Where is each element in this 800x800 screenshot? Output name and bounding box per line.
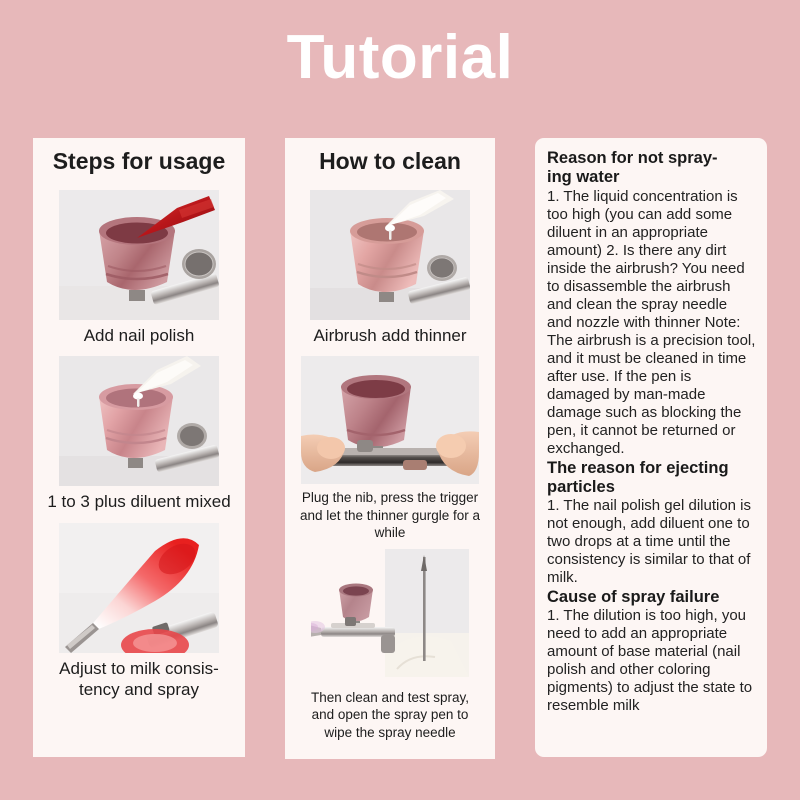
step-item: Then clean and test spray, and open the … [293,549,487,747]
step-item: Add nail polish [41,190,237,355]
photo-add-nail-polish [59,190,219,320]
photo-press-trigger [301,356,479,484]
photo-diluent-mixed [59,356,219,486]
airbrush-cup-with-diluent-bottle-icon [59,356,219,486]
photo-clean-test-spray [311,549,469,684]
card-steps-for-usage: Steps for usage [33,138,245,757]
step-caption: Plug the nib, press the trigger and let … [293,484,487,547]
section-body: 1. The nail polish gel dilution is not e… [547,497,756,587]
step-item: Adjust to milk consis- tency and spray [41,523,237,708]
page-title: Tutorial [0,0,800,89]
step-caption: Then clean and test spray, and open the … [293,684,487,747]
gradient-red-sprayed-nail-tip-icon [59,523,219,653]
section-not-spraying-water: Reason for not spray- ing water 1. The l… [547,149,756,458]
step-item: Plug the nib, press the trigger and let … [293,356,487,547]
card-how-to-clean: How to clean [285,138,495,759]
photo-milk-consistency-spray [59,523,219,653]
card-troubleshooting: Reason for not spray- ing water 1. The l… [535,138,767,757]
column-header-steps: Steps for usage [41,148,237,176]
step-caption: Adjust to milk consis- tency and spray [41,653,237,708]
photo-airbrush-add-thinner [310,190,470,320]
airbrush-spraying-and-needle-wipe-icon [311,549,469,684]
step-caption: 1 to 3 plus diluent mixed [41,486,237,521]
section-body: 1. The liquid concentration is too high … [547,188,756,458]
tutorial-infographic: Tutorial Steps for usage [0,0,800,800]
section-heading: Reason for not spray- ing water [547,149,756,188]
airbrush-cup-with-red-nail-polish-brush-icon [59,190,219,320]
step-caption: Airbrush add thinner [293,320,487,355]
hands-holding-airbrush-pressing-trigger-icon [301,356,479,484]
section-ejecting-particles: The reason for ejecting particles 1. The… [547,459,756,588]
airbrush-cup-with-thinner-bottle-icon [310,190,470,320]
section-heading: Cause of spray failure [547,588,756,607]
section-body: 1. The dilution is too high, you need to… [547,607,756,715]
section-spray-failure: Cause of spray failure 1. The dilution i… [547,588,756,715]
step-caption: Add nail polish [41,320,237,355]
columns-container: Steps for usage [0,138,800,759]
column-header-clean: How to clean [293,148,487,176]
step-item: Airbrush add thinner [293,190,487,355]
step-item: 1 to 3 plus diluent mixed [41,356,237,521]
section-heading: The reason for ejecting particles [547,459,756,498]
